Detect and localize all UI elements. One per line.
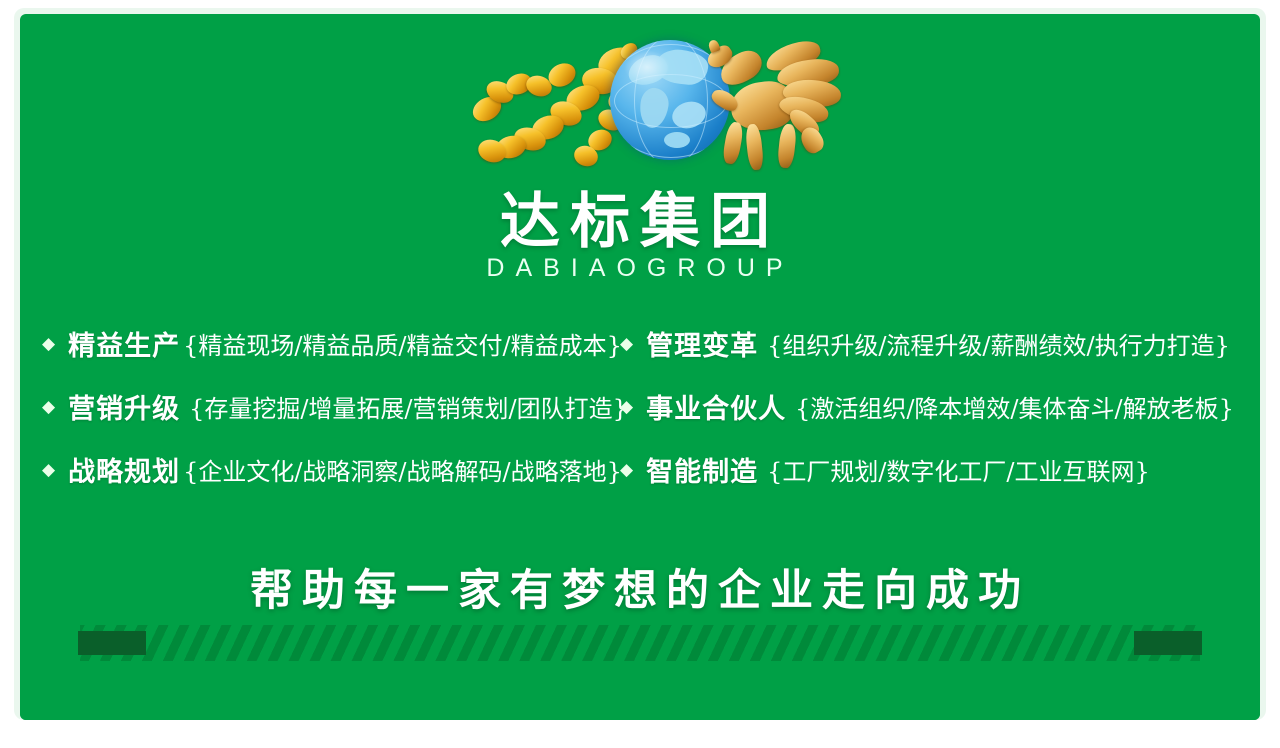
- diamond-bullet-icon: ◆: [620, 335, 633, 352]
- diamond-bullet-icon: ◆: [42, 461, 55, 478]
- poster-frame: 达标集团 DABIAOGROUP ◆ 精益生产 {精益现场/精益品质/精益交付/…: [0, 0, 1280, 748]
- service-name: 精益生产: [68, 324, 180, 363]
- decorative-stripe-band: [20, 625, 1260, 661]
- service-item-smart-manufacturing: ◆ 智能制造 {工厂规划/数字化工厂/工业互联网}: [620, 438, 1250, 501]
- green-poster-panel: 达标集团 DABIAOGROUP ◆ 精益生产 {精益现场/精益品质/精益交付/…: [20, 14, 1260, 720]
- service-name: 营销升级: [68, 387, 180, 426]
- company-logo: [460, 32, 860, 192]
- service-item-strategic-planning: ◆ 战略规划 {企业文化/战略洞察/战略解码/战略落地}: [42, 438, 642, 501]
- diagonal-stripes: [80, 625, 1200, 661]
- company-name-en: DABIAOGROUP: [20, 256, 1260, 281]
- service-name: 管理变革: [646, 324, 758, 363]
- stripe-cap-left: [78, 631, 146, 655]
- service-column-right: ◆ 管理变革 {组织升级/流程升级/薪酬绩效/执行力打造} ◆ 事业合伙人 {激…: [620, 312, 1250, 501]
- service-item-marketing-upgrade: ◆ 营销升级 {存量挖掘/增量拓展/营销策划/团队打造}: [42, 375, 642, 438]
- service-name: 智能制造: [646, 450, 758, 489]
- diamond-bullet-icon: ◆: [620, 398, 633, 415]
- diamond-bullet-icon: ◆: [42, 398, 55, 415]
- service-item-business-partner: ◆ 事业合伙人 {激活组织/降本增效/集体奋斗/解放老板}: [620, 375, 1250, 438]
- company-slogan: 帮助每一家有梦想的企业走向成功: [20, 566, 1260, 618]
- service-item-lean-production: ◆ 精益生产 {精益现场/精益品质/精益交付/精益成本}: [42, 312, 642, 375]
- service-detail: {精益现场/精益品质/精益交付/精益成本}: [183, 326, 622, 361]
- service-name: 事业合伙人: [646, 387, 786, 426]
- diamond-bullet-icon: ◆: [42, 335, 55, 352]
- service-detail: {工厂规划/数字化工厂/工业互联网}: [767, 452, 1150, 487]
- diamond-bullet-icon: ◆: [620, 461, 633, 478]
- pegasus-icon: [695, 38, 855, 178]
- service-detail: {存量挖掘/增量拓展/营销策划/团队打造}: [189, 389, 628, 424]
- service-columns: ◆ 精益生产 {精益现场/精益品质/精益交付/精益成本} ◆ 营销升级 {存量挖…: [20, 312, 1260, 502]
- service-detail: {激活组织/降本增效/集体奋斗/解放老板}: [795, 389, 1234, 424]
- company-name-cn: 达标集团: [20, 192, 1260, 252]
- service-name: 战略规划: [68, 450, 180, 489]
- service-detail: {组织升级/流程升级/薪酬绩效/执行力打造}: [767, 326, 1230, 361]
- service-item-management-reform: ◆ 管理变革 {组织升级/流程升级/薪酬绩效/执行力打造}: [620, 312, 1250, 375]
- service-column-left: ◆ 精益生产 {精益现场/精益品质/精益交付/精益成本} ◆ 营销升级 {存量挖…: [42, 312, 642, 501]
- stripe-cap-right: [1134, 631, 1202, 655]
- panel-footer-space: [20, 661, 1260, 720]
- service-detail: {企业文化/战略洞察/战略解码/战略落地}: [183, 452, 622, 487]
